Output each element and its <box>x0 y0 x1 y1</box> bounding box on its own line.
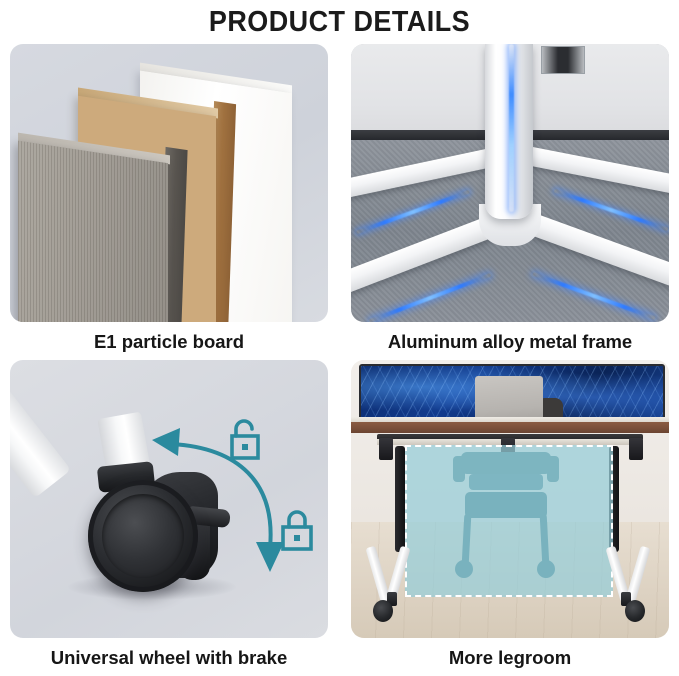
desk-caster-right <box>625 600 645 622</box>
aluminum-frame-image <box>351 44 669 322</box>
frame-hardware-bracket <box>541 46 585 74</box>
gray-board <box>18 141 168 322</box>
desk-leg-upper <box>10 377 71 498</box>
panel-caption-e1-particle-board: E1 particle board <box>10 322 328 360</box>
lock-icon <box>276 508 320 554</box>
desk-panel-left <box>395 446 405 552</box>
universal-wheel-image <box>10 360 328 638</box>
panel-universal-wheel-with-brake: Universal wheel with brake <box>10 360 328 676</box>
panel-aluminum-alloy-metal-frame: Aluminum alloy metal frame <box>351 44 669 360</box>
desk-bracket-left <box>379 438 393 460</box>
legroom-highlight-area <box>405 445 613 597</box>
panel-caption-universal-wheel-with-brake: Universal wheel with brake <box>10 638 328 676</box>
unlock-icon <box>224 418 268 464</box>
desk-bracket-right <box>629 438 643 460</box>
laptop <box>475 376 543 422</box>
e1-particle-board-image <box>10 44 328 322</box>
more-legroom-image <box>351 360 669 638</box>
panel-caption-more-legroom: More legroom <box>351 638 669 676</box>
panel-more-legroom: More legroom <box>351 360 669 676</box>
blue-glow-center-post <box>509 44 514 212</box>
page-title: PRODUCT DETAILS <box>24 0 655 42</box>
desk-top-edge <box>351 422 669 433</box>
panel-e1-particle-board: E1 particle board <box>10 44 328 360</box>
panel-caption-aluminum-alloy-metal-frame: Aluminum alloy metal frame <box>351 322 669 360</box>
product-details-grid: E1 particle board Aluminum alloy metal f… <box>10 44 669 676</box>
desk-caster-left <box>373 600 393 622</box>
